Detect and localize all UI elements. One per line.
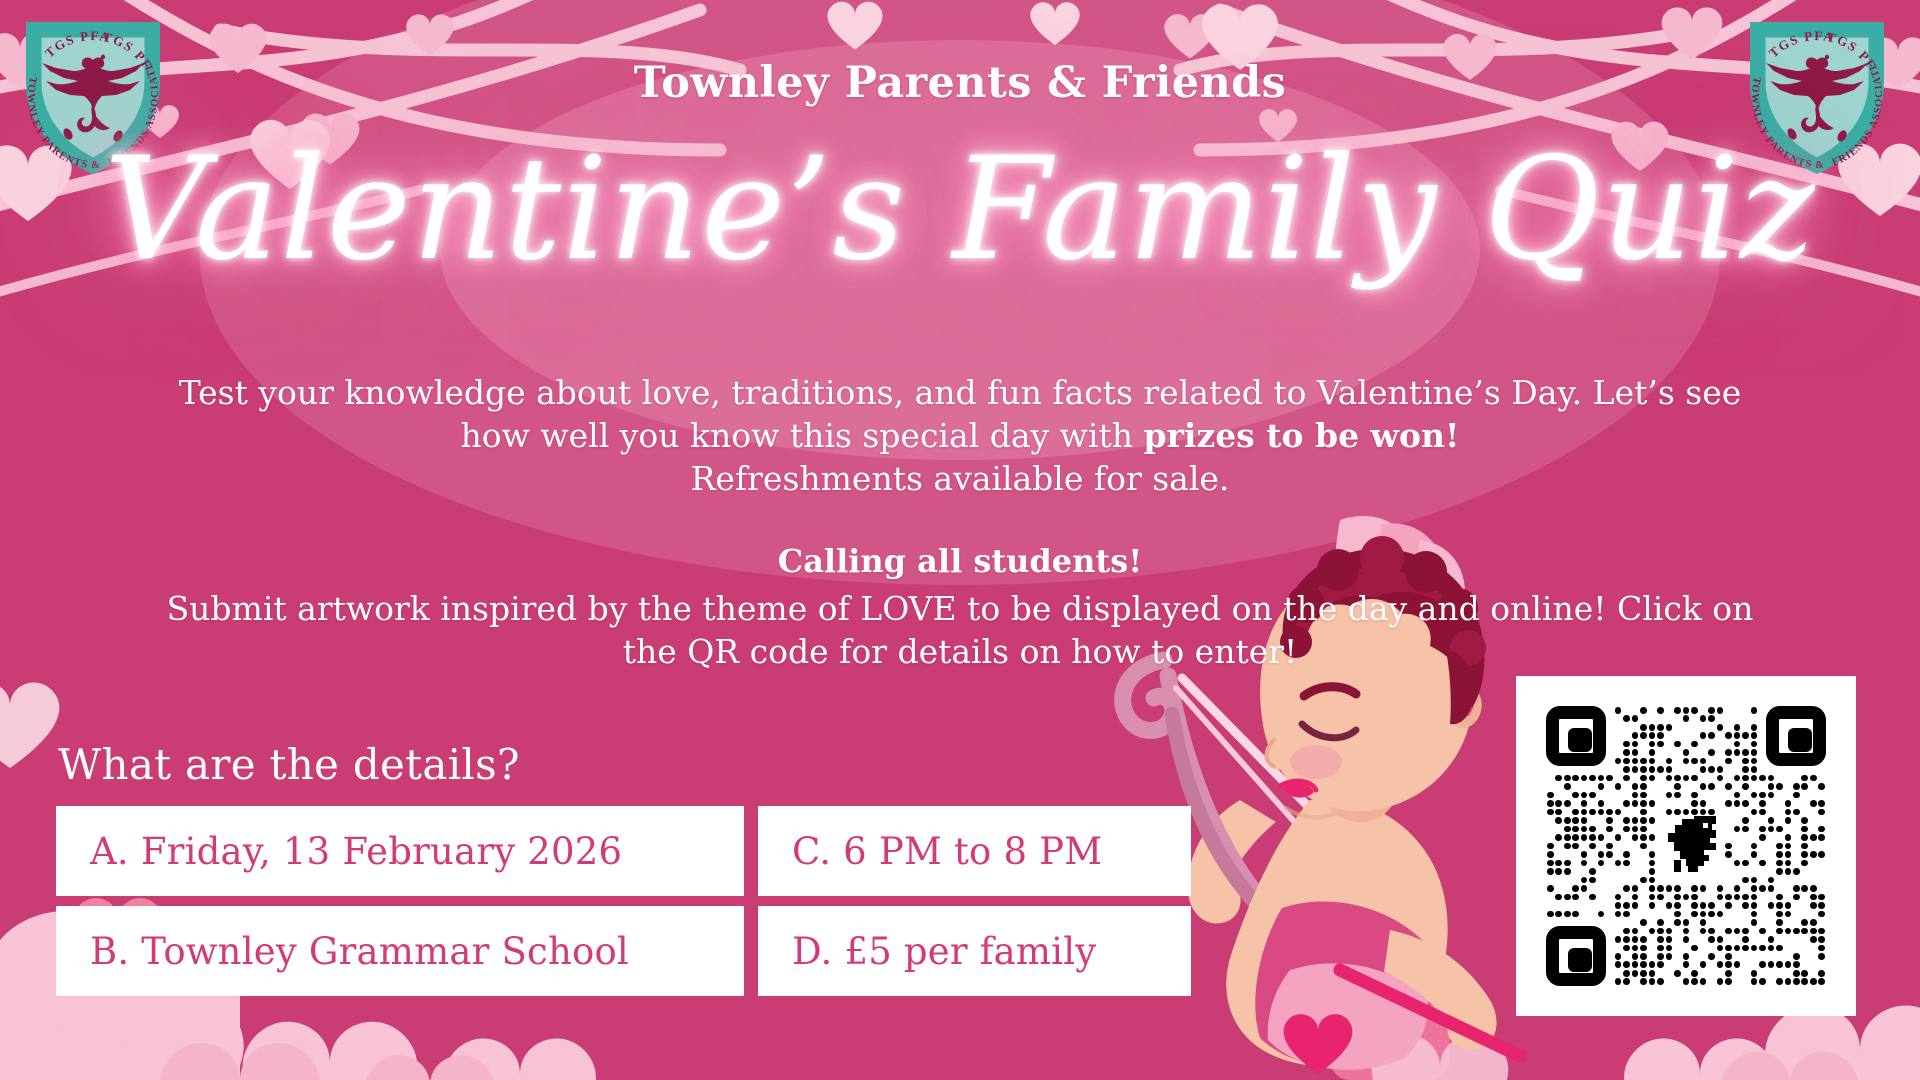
students-line-1: Submit artwork inspired by the theme of …	[100, 588, 1820, 631]
dinosaur-icon	[1654, 812, 1726, 882]
neon-headline: Valentine’s Family Quiz	[0, 130, 1920, 289]
qr-finder-top-right	[1766, 706, 1826, 766]
valentines-quiz-poster: TGS PFA TGS PFA TOWNLEY PARENTS & FRIEND…	[0, 0, 1920, 1080]
qr-matrix	[1546, 706, 1826, 986]
answer-option-c[interactable]: C. 6 PM to 8 PM	[758, 806, 1191, 896]
page-title: Townley Parents & Friends	[0, 58, 1920, 108]
intro-line-2: how well you know this special day with …	[80, 415, 1840, 458]
intro-line-3: Refreshments available for sale.	[80, 458, 1840, 501]
answers-grid: A. Friday, 13 February 2026 C. 6 PM to 8…	[56, 806, 1191, 996]
answer-option-d[interactable]: D. £5 per family	[758, 906, 1191, 996]
students-paragraph: Submit artwork inspired by the theme of …	[100, 588, 1820, 674]
qr-finder-top-left	[1546, 706, 1606, 766]
prizes-emphasis: prizes to be won!	[1143, 416, 1459, 455]
qr-finder-bottom-left	[1546, 926, 1606, 986]
students-heading: Calling all students!	[0, 542, 1920, 580]
answer-option-b[interactable]: B. Townley Grammar School	[56, 906, 744, 996]
details-question: What are the details?	[58, 740, 520, 789]
intro-paragraph: Test your knowledge about love, traditio…	[80, 372, 1840, 501]
qr-code[interactable]	[1516, 676, 1856, 1016]
intro-line-1: Test your knowledge about love, traditio…	[80, 372, 1840, 415]
students-line-2: the QR code for details on how to enter!	[100, 631, 1820, 674]
answer-option-a[interactable]: A. Friday, 13 February 2026	[56, 806, 744, 896]
intro-line-2-prefix: how well you know this special day with	[461, 416, 1144, 455]
